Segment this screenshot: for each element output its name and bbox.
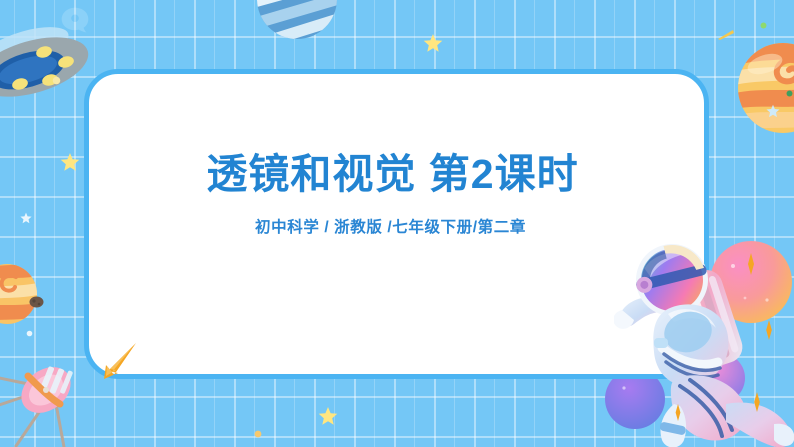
dot-icon — [786, 90, 793, 97]
comet-dash-icon — [718, 30, 734, 40]
planet-jupiter-icon — [737, 42, 794, 134]
star-icon — [60, 152, 80, 172]
star-icon — [766, 104, 780, 118]
star-icon — [20, 212, 32, 224]
page-title: 透镜和视觉 第2课时 — [206, 150, 578, 198]
asteroid-icon — [29, 296, 44, 308]
planet-striped-icon — [256, 0, 338, 40]
dot-icon — [52, 76, 61, 85]
sparkle-icon — [672, 404, 684, 421]
title-card-content: 透镜和视觉 第2课时 初中科学 / 浙教版 /七年级下册/第二章 — [89, 74, 704, 374]
dot-icon — [254, 430, 262, 438]
sparkle-icon — [750, 392, 764, 412]
planet-orange-left-icon — [0, 263, 38, 325]
dot-icon — [26, 330, 33, 337]
page-subtitle: 初中科学 / 浙教版 /七年级下册/第二章 — [255, 215, 526, 237]
dot-icon — [760, 22, 767, 29]
slide-canvas: 透镜和视觉 第2课时 初中科学 / 浙教版 /七年级下册/第二章 — [0, 0, 794, 447]
star-icon — [318, 406, 338, 426]
sparkle-icon — [743, 253, 759, 275]
sparkle-icon — [762, 320, 776, 340]
arrow-icon — [96, 341, 138, 381]
star-icon — [423, 33, 443, 53]
